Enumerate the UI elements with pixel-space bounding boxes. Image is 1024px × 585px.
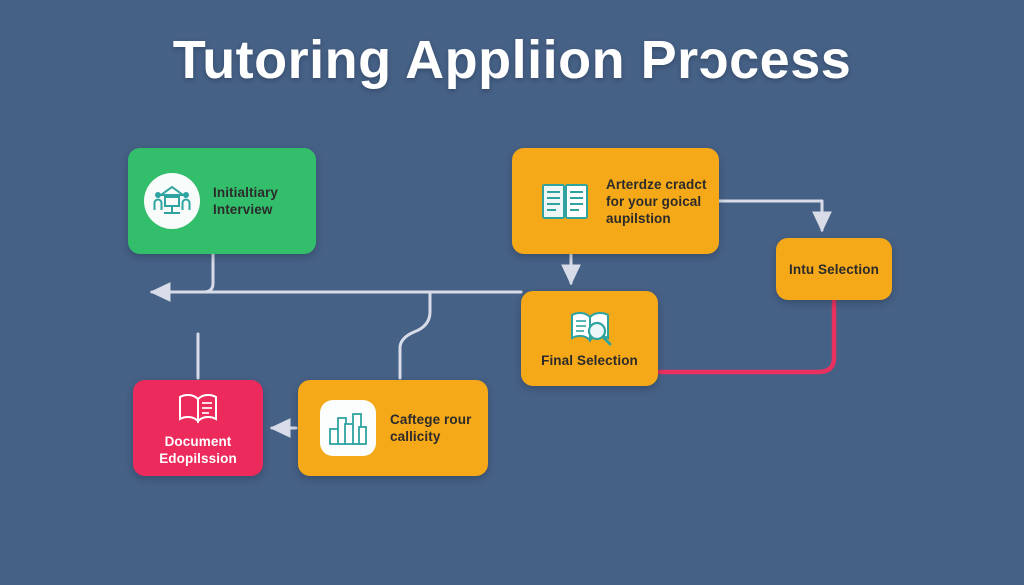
book-search-icon — [567, 308, 613, 346]
node-label-line2: Interview — [213, 202, 272, 217]
node-intu-selection[interactable]: Intu Selection — [776, 238, 892, 300]
node-label-line1: Arterdze cradct — [606, 177, 707, 192]
node-label: Caftege rour callicity — [390, 411, 471, 445]
node-capacity-stage[interactable]: Caftege rour callicity — [298, 380, 488, 476]
node-label: Initialtiary Interview — [213, 184, 278, 218]
node-label-line2: callicity — [390, 429, 440, 444]
node-accredit-application[interactable]: Arterdze cradct for your goical aupilsti… — [512, 148, 719, 254]
node-label: Intu Selection — [789, 261, 879, 278]
node-label: Arterdze cradct for your goical aupilsti… — [606, 176, 707, 227]
node-initial-interview[interactable]: Initialtiary Interview — [128, 148, 316, 254]
node-label-line1: Initialtiary — [213, 185, 278, 200]
node-label-line3: aupilstion — [606, 211, 671, 226]
node-label: Final Selection — [541, 352, 638, 369]
node-document-submission[interactable]: Document Edopilssion — [133, 380, 263, 476]
node-label-line2: Edopilssion — [159, 451, 237, 466]
node-final-selection[interactable]: Final Selection — [521, 291, 658, 386]
diagram-canvas: Tutoring Appliion Prɔcess — [0, 0, 1024, 585]
group-meeting-icon — [144, 173, 200, 229]
edge-capacity-to-bus — [400, 294, 430, 378]
open-document-icon — [538, 178, 592, 224]
edge-intu-to-final-pink — [660, 300, 834, 372]
node-label-line1: Caftege rour — [390, 412, 471, 427]
open-book-icon — [175, 390, 221, 428]
edge-accredit-to-intu — [719, 201, 822, 230]
edge-initial-to-bus — [204, 254, 213, 292]
node-label-line1: Document — [165, 434, 232, 449]
node-label-line2: for your goical — [606, 194, 701, 209]
bar-chart-buildings-icon — [320, 400, 376, 456]
node-label: Document Edopilssion — [159, 433, 237, 467]
